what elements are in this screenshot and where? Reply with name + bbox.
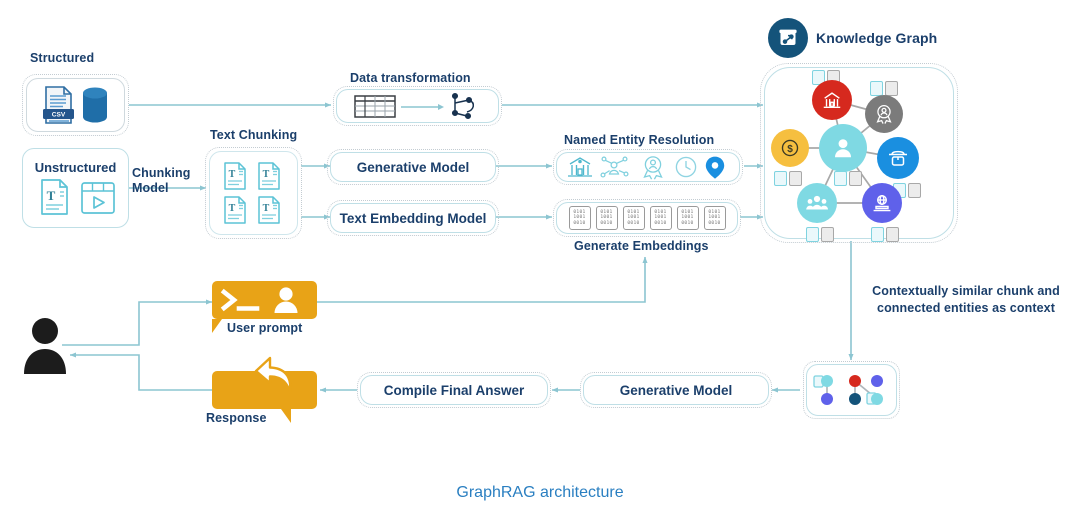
user-prompt-label: User prompt (227, 321, 302, 336)
kg-node-badge-pair (834, 171, 862, 186)
response-label: Response (206, 411, 267, 426)
kg-people-node[interactable] (797, 183, 837, 223)
knowledge-graph-edges (0, 0, 1080, 518)
kg-person-node[interactable] (819, 124, 867, 172)
kg-node-badge-pair (774, 171, 802, 186)
kg-node-badge-pair (871, 227, 899, 242)
kg-money-node[interactable]: $ (771, 129, 809, 167)
mini-doc-icon (806, 227, 819, 242)
user-prompt-icons (212, 281, 317, 319)
person-icon (275, 287, 298, 313)
generative-model-bottom-box[interactable]: Generative Model (583, 375, 769, 405)
kg-briefcase-node[interactable] (877, 137, 919, 179)
retrieved-subgraph-icons (811, 367, 893, 413)
compile-final-answer-box[interactable]: Compile Final Answer (360, 375, 548, 405)
mini-grid-icon (908, 183, 921, 198)
context-note: Contextually similar chunk and connected… (866, 283, 1066, 317)
mini-grid-icon (789, 171, 802, 186)
briefcase-icon (886, 146, 910, 170)
mini-doc-icon (870, 81, 883, 96)
user-prompt-callout-tail (212, 319, 222, 333)
kg-globe-node[interactable] (862, 183, 902, 223)
mini-grid-icon (886, 227, 899, 242)
bank-icon (821, 89, 843, 111)
mini-grid-icon (849, 171, 862, 186)
kg-node-badge-pair (870, 81, 898, 96)
compile-final-answer-label: Compile Final Answer (384, 383, 525, 398)
response-callout-tail (281, 409, 291, 423)
user-prompt-callout[interactable] (212, 281, 317, 319)
retrieved-subgraph-box[interactable] (806, 364, 897, 416)
kg-node-badge-pair (806, 227, 834, 242)
mini-grid-icon (821, 227, 834, 242)
mini-doc-icon (774, 171, 787, 186)
badge-person-icon (873, 103, 895, 125)
mini-doc-icon (834, 171, 847, 186)
generative-model-bottom-label: Generative Model (620, 383, 733, 398)
terminal-prompt-icon (224, 292, 257, 309)
user-avatar-icon (22, 316, 68, 376)
graphrag-architecture-diagram: Structured CSV (0, 0, 1080, 518)
diagram-caption: GraphRAG architecture (0, 484, 1080, 502)
people-group-icon (805, 191, 829, 215)
context-note-line1: Contextually similar chunk and (866, 283, 1066, 300)
reply-arrow-icon (248, 356, 308, 401)
person-icon (830, 135, 856, 161)
coin-dollar-icon: $ (779, 137, 801, 159)
context-note-line2: connected entities as context (866, 300, 1066, 317)
kg-badge-node[interactable] (865, 95, 903, 133)
mini-grid-icon (885, 81, 898, 96)
mini-doc-icon (871, 227, 884, 242)
svg-text:$: $ (787, 144, 793, 155)
kg-bank-node[interactable] (812, 80, 852, 120)
globe-laptop-icon (870, 191, 894, 215)
